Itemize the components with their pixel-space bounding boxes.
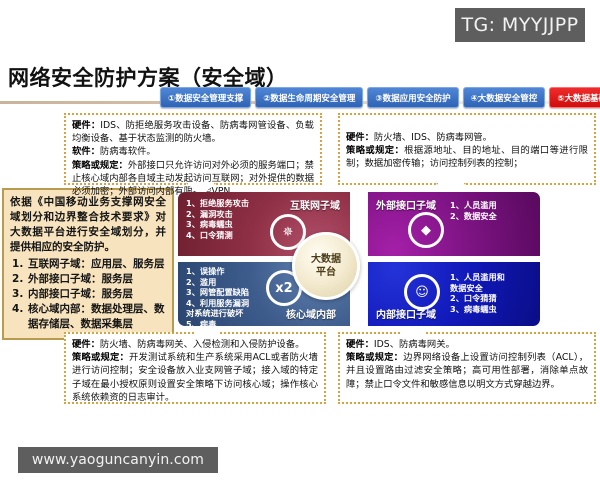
callout-external-interface-subdomain: 硬件：防火墙、IDS、防病毒网管。 策略或规定：根据源地址、目的地址、目的端口等…	[338, 113, 596, 185]
security-domain-list: 互联网子域：应用层、服务层 外部接口子域：服务层 内部接口子域：服务层 核心域内…	[10, 257, 166, 332]
slide-canvas: TG: MYYJJPP www.yaoguncanyin.com 搜狐号@无忧知…	[0, 0, 600, 480]
list-item: 2、漏洞攻击	[186, 209, 249, 220]
list-item: 2、数据安全	[450, 211, 497, 222]
callout-text: 硬件：防火墙、IDS、防病毒网管。 策略或规定：根据源地址、目的地址、目的端口等…	[346, 119, 588, 171]
description-intro: 依据《中国移动业务支撑网安全域划分和边界整合技术要求》对大数据平台进行安全域划分…	[10, 195, 166, 255]
quadrant-external-interface-subdomain[interactable]: 外部接口子域 1、人员滥用 2、数据安全 ◆	[368, 192, 540, 256]
quadrant-label: 外部接口子域	[376, 197, 436, 212]
hardware-text: 防火墙、防病毒网关、入侵检测和入侵防护设备。	[100, 339, 305, 350]
center-label-line2: 平台	[316, 266, 336, 279]
software-label: 软件：	[72, 146, 100, 157]
list-item: 2、口令猜猜	[450, 293, 505, 304]
list-item: 1、误操作	[186, 266, 249, 277]
threat-list: 1、人员滥用和 数据安全 2、口令猜猜 3、病毒蠕虫	[450, 272, 505, 314]
tab-data-security-management[interactable]: ①数据安全管理支撑	[160, 87, 251, 108]
list-item: 1、人员滥用	[450, 200, 497, 211]
list-item: 3、病毒蠕虫	[186, 219, 249, 230]
tab-data-lifecycle-security[interactable]: ②数据生命周期安全管理	[255, 87, 363, 108]
site-url-watermark: www.yaoguncanyin.com	[18, 447, 218, 473]
list-item: 核心域内部：数据处理层、数据存储层、数据采集层	[27, 302, 166, 332]
policy-label: 策略或规定：	[346, 352, 403, 363]
list-item: 互联网子域：应用层、服务层	[27, 257, 166, 272]
smiley-face-icon: ☺	[404, 274, 440, 310]
policy-label: 策略或规定：	[72, 352, 129, 363]
list-item: 3、网管配置缺陷	[186, 287, 249, 298]
policy-label: 策略或规定：	[346, 145, 404, 156]
tab-data-application-protection[interactable]: ③数据应用安全防护	[367, 87, 458, 108]
list-item: 5、病毒	[186, 319, 249, 326]
list-item: 内部接口子域：服务层	[27, 287, 166, 302]
policy-label: 策略或规定：	[72, 160, 128, 171]
hardware-text: IDS、防拒绝服务攻击设备、防病毒网管设备、负载均衡设备、基于状态监测的防火墙。	[72, 120, 314, 144]
hardware-label: 硬件：	[346, 339, 374, 350]
software-text: 防病毒软件。	[100, 146, 156, 157]
tg-watermark: TG: MYYJJPP	[455, 8, 585, 42]
center-label-line1: 大数据	[311, 253, 341, 266]
bigdata-platform-center: 大数据 平台	[292, 232, 360, 300]
list-item: 3、病毒蠕虫	[450, 304, 505, 315]
quadrant-label: 互联网子域	[290, 197, 340, 212]
security-domain-description-panel: 依据《中国移动业务支撑网安全域划分和边界整合技术要求》对大数据平台进行安全域划分…	[2, 188, 174, 340]
hardware-text: IDS、防病毒网关。	[374, 339, 455, 350]
list-item: 外部接口子域：服务层	[27, 272, 166, 287]
list-item: 对系统进行破坏	[186, 308, 249, 319]
list-item: 2、滥用	[186, 277, 249, 288]
hardware-label: 硬件：	[72, 120, 100, 131]
list-item: 1、拒绝服务攻击	[186, 198, 249, 209]
hardware-text: 防火墙、IDS、防病毒网管。	[374, 132, 492, 143]
interface-exchange-icon: ◆	[408, 212, 444, 248]
callout-text: 硬件：IDS、防病毒网关。 策略或规定：边界网络设备上设置访问控制列表（ACL）…	[346, 338, 588, 391]
quadrant-internal-interface-subdomain[interactable]: 内部接口子域 1、人员滥用和 数据安全 2、口令猜猜 3、病毒蠕虫 ☺	[368, 262, 540, 326]
list-item: 4、口令猜测	[186, 230, 249, 241]
tab-bigdata-security-control[interactable]: ④大数据安全管控	[463, 87, 546, 108]
list-item: 4、利用服务漏洞	[186, 298, 249, 309]
callout-core-internal-domain: 硬件：防火墙、防病毒网关、入侵检测和入侵防护设备。 策略或规定：开发测试系统和生…	[64, 332, 326, 404]
hardware-label: 硬件：	[72, 339, 100, 350]
section-tabbar: ①数据安全管理支撑 ②数据生命周期安全管理 ③数据应用安全防护 ④大数据安全管控…	[160, 87, 600, 108]
threat-list: 1、人员滥用 2、数据安全	[450, 200, 497, 221]
callout-internal-interface-subdomain: 硬件：IDS、防病毒网关。 策略或规定：边界网络设备上设置访问控制列表（ACL）…	[338, 332, 596, 404]
quadrant-label: 核心域内部	[286, 306, 336, 321]
tab-bigdata-infrastructure-security[interactable]: ⑤大数据基础设施安全	[549, 87, 600, 108]
threat-list: 1、误操作 2、滥用 3、网管配置缺陷 4、利用服务漏洞 对系统进行破坏 5、病…	[186, 266, 249, 326]
list-item: 数据安全	[450, 283, 505, 294]
threat-list: 1、拒绝服务攻击 2、漏洞攻击 3、病毒蠕虫 4、口令猜测	[186, 198, 249, 240]
hardware-label: 硬件：	[346, 132, 374, 143]
callout-internet-subdomain: 硬件：IDS、防拒绝服务攻击设备、防病毒网管设备、负载均衡设备、基于状态监测的防…	[64, 113, 322, 185]
callout-text: 硬件：防火墙、防病毒网关、入侵检测和入侵防护设备。 策略或规定：开发测试系统和生…	[72, 338, 318, 404]
list-item: 1、人员滥用和	[450, 272, 505, 283]
